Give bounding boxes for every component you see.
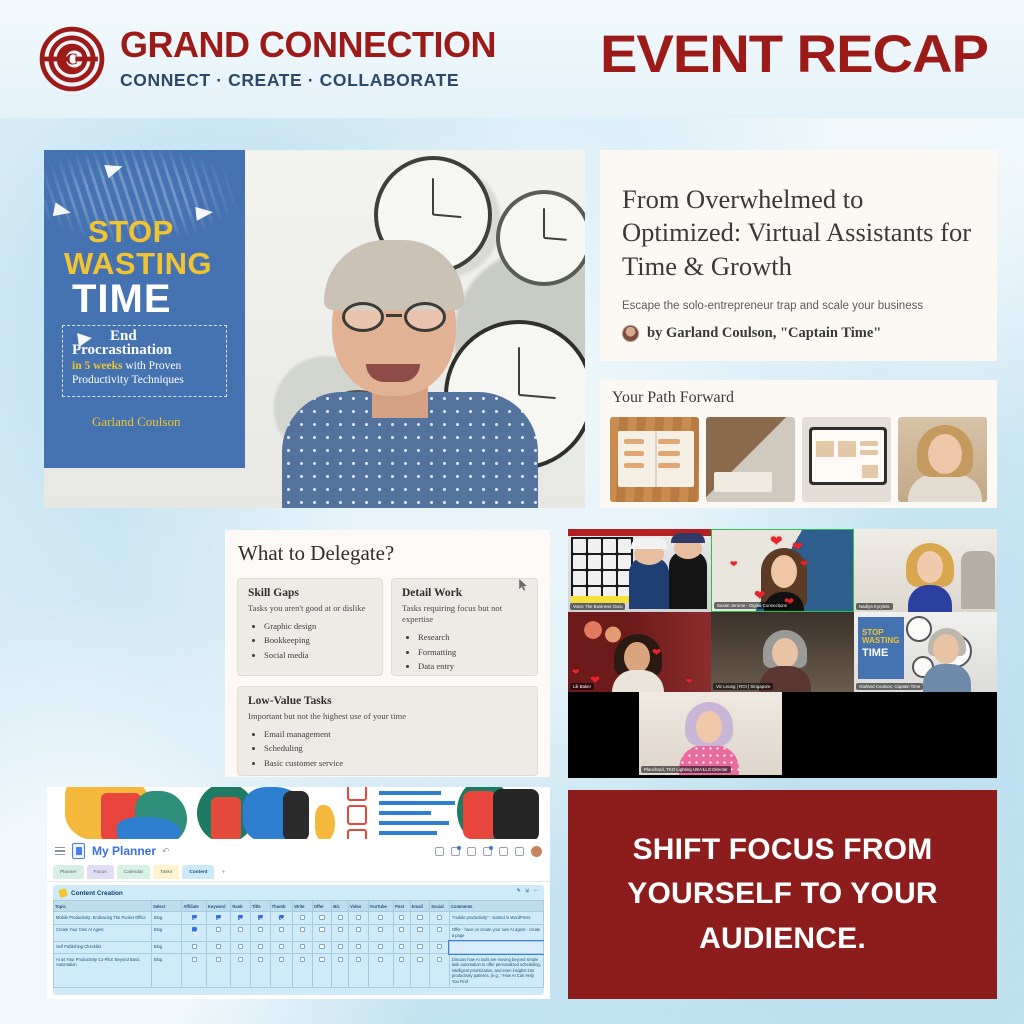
cell-check[interactable]	[293, 912, 313, 925]
participant-name: Susan Jerome - Digital Connections	[714, 602, 790, 609]
cell-check[interactable]	[206, 912, 231, 925]
list-item: Scheduling	[264, 741, 527, 755]
cell-select[interactable]: Blog	[152, 941, 182, 954]
cell-check[interactable]	[270, 912, 293, 925]
cell-check[interactable]	[270, 954, 293, 988]
meeting-row: ❤ ❤ ❤ ❤ Lili Baker Vic Leung | ROI | Sin…	[568, 612, 997, 692]
col-thumb[interactable]: Thumb	[270, 901, 293, 912]
sheet-title: Content Creation	[71, 890, 123, 897]
cell-select[interactable]: Blog	[152, 912, 182, 925]
cell-check[interactable]	[250, 941, 270, 954]
cell-topic[interactable]: Mobile Productivity: Embracing The Pocke…	[54, 912, 152, 925]
card-title: Low-Value Tasks	[248, 695, 527, 707]
heart-reaction-icon: ❤	[572, 668, 580, 677]
delegate-card-low-value-tasks: Low-Value Tasks Important but not the hi…	[237, 686, 538, 776]
book-title-line3: TIME	[72, 277, 172, 322]
participant-tile: Planchard, TKO Lighting USA LLC Director	[639, 692, 782, 775]
participant-name: Garland Coulson, Captain Time	[856, 683, 923, 690]
card-list: Email management Scheduling Basic custom…	[264, 727, 527, 770]
cell-check[interactable]	[348, 912, 368, 925]
add-tab-button[interactable]: +	[221, 869, 225, 876]
meeting-row: Voice The Business Guru ❤ ❤ ❤ ❤ ❤ ❤ Susa…	[568, 529, 997, 612]
cell-check[interactable]	[312, 912, 332, 925]
list-item: Email management	[264, 727, 527, 741]
bell-icon[interactable]	[483, 847, 492, 856]
cell-check[interactable]	[250, 912, 270, 925]
col-affiliate[interactable]: Affiliate	[182, 901, 207, 912]
sheet-tool-icons: ✎ ⇲ ⋯	[517, 888, 538, 894]
col-write[interactable]: Write	[293, 901, 313, 912]
planner-app-name: My Planner	[92, 844, 156, 858]
book-title-line1: STOP	[88, 216, 174, 248]
clock-icon[interactable]	[515, 847, 524, 856]
participant-name: Lili Baker	[570, 683, 594, 690]
brand-title: GRAND CONNECTION	[120, 27, 496, 63]
participant-tile: ❤ ❤ ❤ ❤ Lili Baker	[568, 612, 711, 692]
cell-check[interactable]	[312, 941, 332, 954]
tab-content[interactable]: Content	[182, 865, 214, 879]
brand-logo-block: C GRAND CONNECTION CONNECT · CREATE · CO…	[38, 25, 496, 93]
cell-check[interactable]	[430, 924, 450, 941]
cell-check[interactable]	[332, 954, 349, 988]
edit-icon[interactable]: ✎	[517, 888, 521, 894]
what-to-delegate-panel: What to Delegate? Skill Gaps Tasks you a…	[225, 530, 550, 777]
cell-check[interactable]	[206, 941, 231, 954]
cell-check[interactable]	[430, 954, 450, 988]
list-item: Formatting	[418, 645, 527, 659]
cell-check[interactable]	[206, 924, 231, 941]
book-sub-line2: Procrastination	[72, 342, 172, 359]
card-list: Research Formatting Data entry	[418, 630, 527, 673]
document-icon	[72, 843, 85, 859]
book-cover-thumbnail: STOPWASTINGTIME	[858, 617, 904, 679]
cell-check[interactable]	[250, 924, 270, 941]
col-keyword[interactable]: Keyword	[206, 901, 231, 912]
participant-name: Planchard, TKO Lighting USA LLC Director	[641, 766, 731, 773]
col-comments[interactable]: Comments	[449, 901, 543, 912]
mouse-cursor-icon	[519, 579, 528, 591]
book-sub-line4: Productivity Techniques	[72, 374, 184, 386]
card-list: Graphic design Bookkeeping Social media	[264, 619, 372, 662]
meeting-row: Planchard, TKO Lighting USA LLC Director	[568, 692, 997, 775]
col-youtube[interactable]: YouTube	[368, 901, 393, 912]
session-subtitle: Escape the solo-entrepreneur trap and sc…	[622, 300, 975, 312]
planner-banner-illustration	[47, 787, 550, 839]
heart-reaction-icon: ❤	[754, 588, 766, 602]
help-icon[interactable]	[435, 847, 444, 856]
cell-check[interactable]	[250, 954, 270, 988]
book-author: Garland Coulson	[92, 414, 180, 430]
thumbnail-desk-sunlight	[706, 417, 795, 502]
col-social[interactable]: Social	[430, 901, 450, 912]
expand-icon[interactable]: ⇲	[525, 888, 529, 894]
participant-tile: STOPWASTINGTIME Garland Coulson, Captain…	[854, 612, 997, 692]
participant-tile: Voice The Business Guru	[568, 529, 711, 612]
col-topic[interactable]: Topic	[54, 901, 152, 912]
apps-icon[interactable]	[467, 847, 476, 856]
list-item: Graphic design	[264, 619, 372, 633]
cell-select[interactable]: Blog	[152, 924, 182, 941]
participant-name: Vic Leung | ROI | Singapore	[713, 683, 773, 690]
brand-tagline: CONNECT · CREATE · COLLABORATE	[120, 70, 496, 91]
speaker-avatar	[622, 325, 639, 342]
col-rank[interactable]: Rank	[231, 901, 251, 912]
card-description: Tasks requiring focus but not expertise	[402, 603, 527, 625]
cell-check[interactable]	[410, 924, 430, 941]
cell-check[interactable]	[368, 924, 393, 941]
cell-check[interactable]	[182, 912, 207, 925]
svg-text:C: C	[66, 49, 78, 68]
cell-check[interactable]	[270, 924, 293, 941]
key-takeaway-quote-panel: SHIFT FOCUS FROM YOURSELF TO YOUR AUDIEN…	[568, 790, 997, 999]
delegate-heading: What to Delegate?	[238, 541, 550, 566]
cell-comment-editing[interactable]	[449, 941, 543, 954]
session-title-card: From Overwhelmed to Optimized: Virtual A…	[600, 150, 997, 361]
book-cover-image: STOP WASTING TIME End Procrastination in…	[44, 150, 245, 468]
session-byline: by Garland Coulson, "Captain Time"	[647, 325, 881, 342]
col-offer[interactable]: Offer	[312, 901, 332, 912]
col-title[interactable]: Title	[250, 901, 270, 912]
cell-check[interactable]	[312, 924, 332, 941]
planner-toolbar-icons	[435, 846, 542, 857]
cell-check[interactable]	[332, 941, 349, 954]
session-title: From Overwhelmed to Optimized: Virtual A…	[622, 183, 975, 283]
cell-check[interactable]	[410, 941, 430, 954]
delegate-card-detail-work: Detail Work Tasks requiring focus but no…	[391, 578, 538, 676]
byline-row: by Garland Coulson, "Captain Time"	[622, 325, 975, 342]
cell-select[interactable]: Blog	[152, 954, 182, 988]
cell-check[interactable]	[182, 924, 207, 941]
cell-check[interactable]	[394, 941, 411, 954]
col-select[interactable]: Select	[152, 901, 182, 912]
cell-check[interactable]	[348, 954, 368, 988]
cell-topic[interactable]: AI as Your Productivity Co-Pilot: Beyond…	[54, 954, 152, 988]
planner-tab-bar: Planner Focus Calendar Tasks Content +	[47, 863, 550, 882]
content-table: Topic Select Affiliate Keyword Rank Titl…	[53, 900, 544, 988]
tab-calendar[interactable]: Calendar	[117, 865, 150, 879]
cell-check[interactable]	[182, 941, 207, 954]
cell-topic[interactable]: Create Your Own AI Agent	[54, 924, 152, 941]
planner-toolbar: My Planner ↶	[47, 839, 550, 863]
cell-check[interactable]	[368, 954, 393, 988]
cell-comment[interactable]: Offer - have us create your own AI agent…	[449, 924, 543, 941]
heart-reaction-icon: ❤	[770, 534, 783, 549]
heart-reaction-icon: ❤	[652, 648, 661, 659]
cell-check[interactable]	[394, 924, 411, 941]
list-item: Bookkeeping	[264, 633, 372, 647]
table-row[interactable]: Mobile Productivity: Embracing The Pocke…	[54, 912, 544, 925]
card-title: Detail Work	[402, 587, 527, 599]
participant-tile: Nadiya Kyrylets	[854, 529, 997, 612]
list-item: Basic customer service	[264, 756, 527, 770]
participant-tile: Vic Leung | ROI | Singapore	[711, 612, 854, 692]
target-bullseye-c-icon: C	[38, 25, 106, 93]
cell-check[interactable]	[231, 941, 251, 954]
cell-check[interactable]	[348, 941, 368, 954]
cell-comment[interactable]: Discuss how AI tools are moving beyond s…	[449, 954, 543, 988]
thumbnail-smiling-woman	[898, 417, 987, 502]
participant-tile-active-speaker: ❤ ❤ ❤ ❤ ❤ ❤ Susan Jerome - Digital Conne…	[711, 529, 854, 612]
col-bl[interactable]: B/L	[332, 901, 349, 912]
participant-name: Nadiya Kyrylets	[856, 603, 893, 610]
delegate-card-skill-gaps: Skill Gaps Tasks you aren't good at or d…	[237, 578, 383, 676]
cell-check[interactable]	[368, 941, 393, 954]
cell-check[interactable]	[182, 954, 207, 988]
hero-photo-panel: STOP WASTING TIME End Procrastination in…	[44, 150, 585, 508]
path-forward-heading: Your Path Forward	[612, 389, 997, 407]
event-recap-title: EVENT RECAP	[600, 28, 988, 81]
hamburger-menu-icon[interactable]	[55, 844, 65, 858]
more-icon[interactable]: ⋯	[533, 888, 538, 894]
table-header-row: Topic Select Affiliate Keyword Rank Titl…	[54, 901, 544, 912]
card-description: Tasks you aren't good at or dislike	[248, 603, 372, 614]
col-email[interactable]: Email	[410, 901, 430, 912]
cell-check[interactable]	[410, 954, 430, 988]
card-description: Important but not the highest use of you…	[248, 711, 527, 722]
path-forward-panel: Your Path Forward	[600, 380, 997, 508]
list-item: Social media	[264, 648, 372, 662]
cell-comment[interactable]: "mobile productivity" - started in WordP…	[449, 912, 543, 925]
book-sub-line3: in 5 weeks with Proven	[72, 360, 181, 372]
cell-check[interactable]	[332, 912, 349, 925]
sheet-title-row: Content Creation ✎ ⇲ ⋯	[53, 885, 544, 900]
cell-check[interactable]	[332, 924, 349, 941]
col-video[interactable]: Video	[348, 901, 368, 912]
heart-reaction-icon: ❤	[730, 560, 738, 569]
hand-icon	[58, 888, 68, 898]
table-row[interactable]: Self Publishing Checklist Blog	[54, 941, 544, 954]
cell-check[interactable]	[293, 924, 313, 941]
path-forward-thumbnails	[610, 417, 987, 502]
tab-planner[interactable]: Planner	[53, 865, 84, 879]
cell-check[interactable]	[312, 954, 332, 988]
thumbnail-notebook-planning	[610, 417, 699, 502]
avatar[interactable]	[531, 846, 542, 857]
cell-check[interactable]	[231, 912, 251, 925]
list-item: Research	[418, 630, 527, 644]
speaker-portrait	[276, 224, 544, 508]
list-item: Data entry	[418, 659, 527, 673]
glasses-icon	[342, 302, 446, 332]
col-post[interactable]: Post	[394, 901, 411, 912]
cell-check[interactable]	[430, 941, 450, 954]
tab-tasks[interactable]: Tasks	[153, 865, 179, 879]
zoom-meeting-grid: Voice The Business Guru ❤ ❤ ❤ ❤ ❤ ❤ Susa…	[568, 529, 997, 778]
cell-check[interactable]	[394, 954, 411, 988]
thumbnail-laptop-dashboard	[802, 417, 891, 502]
cell-topic[interactable]: Self Publishing Checklist	[54, 941, 152, 954]
participant-name: Voice The Business Guru	[570, 603, 625, 610]
cell-check[interactable]	[368, 912, 393, 925]
cell-check[interactable]	[206, 954, 231, 988]
cell-check[interactable]	[231, 954, 251, 988]
card-title: Skill Gaps	[248, 587, 372, 599]
search-icon[interactable]	[499, 847, 508, 856]
table-row[interactable]: Create Your Own AI Agent Blog Offer -	[54, 924, 544, 941]
cell-check[interactable]	[270, 941, 293, 954]
link-icon[interactable]	[451, 847, 460, 856]
undo-icon[interactable]: ↶	[162, 846, 170, 857]
heart-reaction-icon: ❤	[800, 560, 808, 570]
table-row[interactable]: AI as Your Productivity Co-Pilot: Beyond…	[54, 954, 544, 988]
tab-focus[interactable]: Focus	[87, 865, 114, 879]
quote-text: SHIFT FOCUS FROM YOURSELF TO YOUR AUDIEN…	[568, 828, 997, 961]
cell-check[interactable]	[231, 924, 251, 941]
cell-check[interactable]	[394, 912, 411, 925]
heart-reaction-icon: ❤	[686, 678, 693, 686]
heart-reaction-icon: ❤	[792, 540, 803, 553]
cell-check[interactable]	[410, 912, 430, 925]
content-creation-sheet: Content Creation ✎ ⇲ ⋯ Topic Select Affi…	[53, 885, 544, 995]
cell-check[interactable]	[293, 954, 313, 988]
header-bar: C GRAND CONNECTION CONNECT · CREATE · CO…	[0, 0, 1024, 118]
cell-check[interactable]	[348, 924, 368, 941]
cell-check[interactable]	[293, 941, 313, 954]
cell-check[interactable]	[430, 912, 450, 925]
delegate-card-row: Skill Gaps Tasks you aren't good at or d…	[237, 578, 538, 676]
planner-app-screenshot: My Planner ↶ Planner Focus Calendar Task…	[47, 787, 550, 999]
